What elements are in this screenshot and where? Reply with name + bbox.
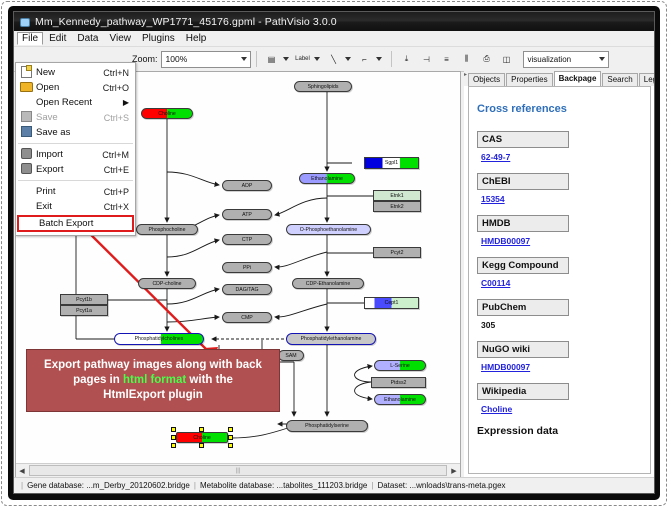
node-label: Cept1 [385,300,399,306]
menu-help[interactable]: Help [181,32,212,45]
toolbar-divider [256,51,257,67]
menu-item-label: Save as [36,127,129,138]
menu-item-accel: Ctrl+N [103,68,135,78]
menu-item-accel: Ctrl+O [103,83,135,93]
node-label: CTP [242,237,252,243]
line-dropdown-icon[interactable] [345,57,351,61]
scrollbar-thumb[interactable]: ||| [29,465,447,476]
menu-item-label: Export [36,164,104,175]
tab-objects[interactable]: Objects [468,73,505,86]
menu-item-import[interactable]: Import Ctrl+M [16,147,135,162]
visualization-value: visualization [528,55,572,64]
label-dropdown-icon[interactable] [314,57,320,61]
node-label: Phosphatidylserine [305,423,349,429]
status-metabolite-database-label: Metabolite database: [200,481,274,490]
menu-separator-1 [18,143,133,144]
status-gene-database-value: ...m_Derby_20120602.bridge [86,481,190,490]
node-label: DAG/TAG [236,287,259,293]
xref-source-label: Wikipedia [477,383,569,400]
canvas-horizontal-scrollbar[interactable]: ◀ ||| ▶ [16,463,460,477]
menu-file[interactable]: File [17,32,43,45]
chevron-down-icon-2 [599,57,605,61]
menu-item-print[interactable]: Print Ctrl+P [16,184,135,199]
resize-handle-se[interactable] [228,443,233,448]
callout-line-2: pages in html format with the [73,373,233,388]
node-label: CMP [241,315,253,321]
xref-source-label: CAS [477,131,569,148]
node-adp[interactable]: ADP [222,180,272,191]
node-l-serine[interactable]: L-Serine [374,360,426,371]
node-phosphatidylcholines[interactable]: Phosphatidylcholines [114,333,204,345]
resize-handle-w[interactable] [171,435,176,440]
menu-item-label: Open [36,82,103,93]
node-ethanolamine-top[interactable]: Ethanolamine [299,173,355,184]
menu-item-label: Save [36,112,104,123]
expression-data-title: Expression data [477,425,643,437]
xref-wikipedia: Wikipedia Choline [477,383,643,414]
menu-item-accel: Ctrl+P [104,187,135,197]
label-button[interactable]: Label [294,50,312,68]
node-label: Ethanolamine [384,397,416,403]
node-label: Phosphatidylcholines [135,336,184,342]
xref-kegg-compound: Kegg Compound C00114 [477,257,643,288]
datanode-button[interactable]: ▤ [263,50,281,68]
node-ethanolamine-bottom[interactable]: Ethanolamine [374,394,426,405]
tab-properties[interactable]: Properties [506,73,552,86]
tab-backpage[interactable]: Backpage [554,71,602,86]
backpage-panel: Cross references CAS 62-49-7 ChEBI 15354… [468,86,651,474]
open-folder-icon [16,82,36,94]
node-label: Pcyt2 [391,250,404,256]
node-etnk1[interactable]: Etnk1 [373,190,421,201]
shape-button[interactable]: ⌐ [356,50,374,68]
xref-source-label: ChEBI [477,173,569,190]
node-pcyt2[interactable]: Pcyt2 [373,247,421,258]
node-label: L-Serine [390,363,410,369]
node-label: Sphingolipids [308,84,339,90]
node-cdp-choline[interactable]: CDP-choline [138,278,196,289]
datanode-dropdown-icon[interactable] [283,57,289,61]
shape-dropdown-icon[interactable] [376,57,382,61]
distribute-button[interactable]: ⫼ [458,50,476,68]
xref-value-text: 305 [481,320,643,330]
xref-nugo-wiki: NuGO wiki HMDB00097 [477,341,643,372]
node-label: Phosphatidylethanolamine [301,336,362,342]
xref-source-label: Kegg Compound [477,257,569,274]
menu-data[interactable]: Data [72,32,103,45]
status-bar: | Gene database: ...m_Derby_20120602.bri… [14,477,655,493]
status-dataset-label: Dataset: [377,481,407,490]
backpage-title: Cross references [477,103,643,115]
resize-handle-sw[interactable] [171,443,176,448]
save-as-icon [16,126,36,139]
node-sgpl1[interactable]: Sgpl1 [364,157,419,169]
status-divider-1: | [194,481,196,490]
node-ppi[interactable]: PPi [222,262,272,273]
menu-edit[interactable]: Edit [44,32,71,45]
scroll-left-arrow-icon[interactable]: ◀ [16,467,28,475]
side-panel-tabs: ▸ Objects Properties Backpage Search Leg… [464,71,655,86]
menu-item-label: Batch Export [39,218,132,229]
status-metabolite-database-value: ...tabolites_111203.bridge [276,481,367,490]
import-icon [16,148,36,161]
status-divider-0: | [21,481,23,490]
menu-bar: File Edit Data View Plugins Help [14,31,654,47]
node-label: Choline [193,435,211,441]
node-dag-tag[interactable]: DAG/TAG [222,284,272,295]
submenu-arrow-icon: ▶ [123,98,135,107]
application-window: Mm_Kennedy_pathway_WP1771_45176.gpml - P… [13,11,655,494]
xref-value-link[interactable]: 15354 [481,194,643,204]
xref-value-link[interactable]: HMDB00097 [481,362,643,372]
status-gene-database-label: Gene database: [27,481,84,490]
node-label: Pcyt1b [76,297,92,303]
node-label: ADP [242,183,253,189]
resize-handle-e[interactable] [228,435,233,440]
node-label: ATP [242,212,252,218]
side-panel: ▸ Objects Properties Backpage Search Leg… [464,71,655,478]
xref-cas: CAS 62-49-7 [477,131,643,162]
menu-view[interactable]: View [104,32,136,45]
menu-item-accel: Ctrl+E [104,165,135,175]
menu-item-open-recent[interactable]: Open Recent ▶ [16,95,135,110]
menu-item-accel: Ctrl+M [102,150,135,160]
save-icon [16,111,36,124]
menu-item-label: Print [36,186,104,197]
xref-source-label: NuGO wiki [477,341,569,358]
tab-scroll-grip[interactable]: ▸ [464,71,469,86]
xref-value-link[interactable]: C00114 [481,278,643,288]
resize-handle-s[interactable] [199,443,204,448]
node-label: Pcyt1a [76,308,92,314]
menu-item-save-as[interactable]: Save as [16,125,135,140]
annotation-callout: Export pathway images along with back pa… [26,349,280,412]
node-pcyt1a[interactable]: Pcyt1a [60,305,108,316]
export-icon [16,163,36,176]
scroll-right-arrow-icon[interactable]: ▶ [448,467,460,475]
node-atp[interactable]: ATP [222,209,272,220]
status-divider-2: | [371,481,373,490]
menu-item-batch-export[interactable]: Batch Export [17,215,134,232]
xref-source-label: HMDB [477,215,569,232]
callout-highlight: html format [123,374,186,386]
node-o-phosphoethanolamine[interactable]: O-Phosphoethanolamine [286,224,371,235]
xref-chebi: ChEBI 15354 [477,173,643,204]
node-label: PPi [243,265,251,271]
file-menu-dropdown: New Ctrl+N Open Ctrl+O Open Recent ▶ Sav… [15,62,136,236]
node-phosphocholine[interactable]: Phosphocholine [136,224,198,235]
resize-handle-ne[interactable] [228,427,233,432]
node-ptdss2[interactable]: Ptdss2 [371,377,426,388]
node-sphingolipids[interactable]: Sphingolipids [294,81,352,92]
node-label: Phosphocholine [149,227,186,233]
tab-legend[interactable]: Legend [639,73,655,86]
node-ctp[interactable]: CTP [222,234,272,245]
node-phosphatidylethanolamine[interactable]: Phosphatidylethanolamine [286,333,376,345]
node-label: CDP-Ethanolamine [306,281,350,287]
align-left-button[interactable]: ⊣ [418,50,436,68]
node-label: Ptdss2 [391,380,407,386]
menu-plugins[interactable]: Plugins [137,32,180,45]
pathvisio-icon [19,16,30,27]
menu-separator-2 [18,180,133,181]
menu-item-label: New [36,67,103,78]
callout-line-3: HtmlExport plugin [103,388,203,403]
line-button[interactable]: ╲ [325,50,343,68]
node-choline-top[interactable]: Choline [141,108,193,119]
node-cdp-ethanolamine[interactable]: CDP-Ethanolamine [292,278,364,289]
zoom-combobox[interactable]: 100% [161,51,251,68]
node-pcyt1b[interactable]: Pcyt1b [60,294,108,305]
node-sam[interactable]: SAM [278,350,304,361]
toolbar-divider-2 [391,51,392,67]
node-label: Choline [158,111,176,117]
node-cept1[interactable]: Cept1 [364,297,419,309]
title-bar: Mm_Kennedy_pathway_WP1771_45176.gpml - P… [14,12,654,31]
new-document-icon [16,66,36,80]
window-title: Mm_Kennedy_pathway_WP1771_45176.gpml - P… [35,16,337,28]
xref-value-link[interactable]: HMDB00097 [481,236,643,246]
node-label: O-Phosphoethanolamine [300,227,357,233]
visualization-combobox[interactable]: visualization [523,51,609,68]
node-etnk2[interactable]: Etnk2 [373,201,421,212]
menu-item-exit[interactable]: Exit Ctrl+X [16,199,135,214]
menu-item-label: Open Recent [36,97,123,108]
chevron-down-icon [241,57,247,61]
menu-item-new[interactable]: New Ctrl+N [16,65,135,80]
menu-item-save: Save Ctrl+S [16,110,135,125]
tab-search[interactable]: Search [602,73,637,86]
legend-button[interactable]: ◫ [498,50,516,68]
resize-handle-n[interactable] [199,427,204,432]
menu-item-accel: Ctrl+X [104,202,135,212]
callout-line-2-pre: pages in [73,374,123,386]
callout-line-1: Export pathway images along with back [44,358,262,373]
print-button[interactable]: ⎙ [478,50,496,68]
xref-source-label: PubChem [477,299,569,316]
zoom-value: 100% [166,54,188,64]
menu-item-label: Exit [36,201,104,212]
align-top-button[interactable]: ⤓ [398,50,416,68]
node-cmp[interactable]: CMP [222,312,272,323]
stack-button[interactable]: ≡ [438,50,456,68]
node-label: Sgpl1 [385,160,398,166]
node-label: Ethanolamine [311,176,343,182]
node-label: SAM [285,353,296,359]
node-label: Etnk2 [390,204,403,210]
xref-value-link[interactable]: Choline [481,404,643,414]
node-label: Etnk1 [390,193,403,199]
status-dataset-value: ...wnloads\trans-meta.pgex [409,481,505,490]
menu-item-export[interactable]: Export Ctrl+E [16,162,135,177]
callout-line-2-post: with the [186,374,233,386]
menu-item-accel: Ctrl+S [104,113,135,123]
xref-hmdb: HMDB HMDB00097 [477,215,643,246]
menu-item-open[interactable]: Open Ctrl+O [16,80,135,95]
xref-pubchem: PubChem 305 [477,299,643,330]
xref-value-link[interactable]: 62-49-7 [481,152,643,162]
menu-item-label: Import [36,149,102,160]
node-phosphatidylserine[interactable]: Phosphatidylserine [286,420,368,432]
screenshot-frame: Mm_Kennedy_pathway_WP1771_45176.gpml - P… [0,0,670,509]
node-label: CDP-choline [152,281,181,287]
resize-handle-nw[interactable] [171,427,176,432]
